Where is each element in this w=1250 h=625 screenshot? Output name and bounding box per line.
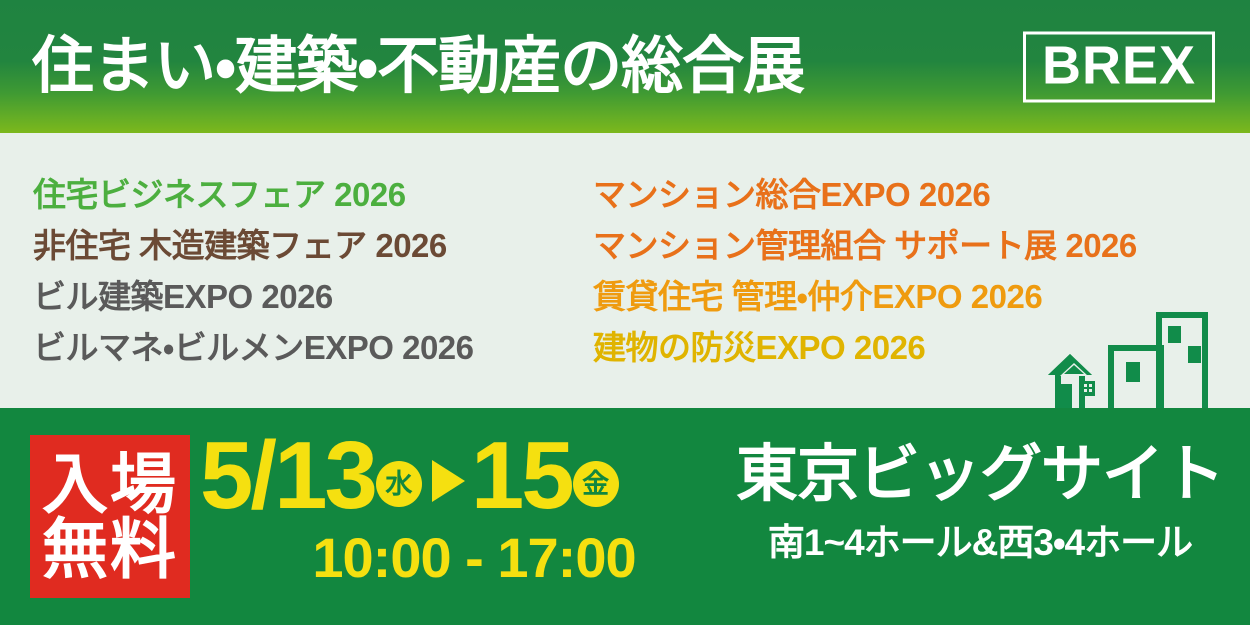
- event-item-chintai-jutaku-expo[interactable]: 賃貸住宅 管理・仲介EXPO 2026: [593, 280, 1250, 313]
- start-day-of-week-badge: 水: [376, 461, 422, 507]
- venue-block: 東京ビッグサイト 南1~4ホール&西3・4ホール: [730, 444, 1230, 561]
- house-and-buildings-icon: [1048, 312, 1238, 408]
- events-column-left: 住宅ビジネスフェア 2026 非住宅 木造建築フェア 2026 ビル建築EXPO…: [0, 133, 585, 408]
- brex-logo: BREX: [1023, 31, 1215, 102]
- event-item-birumane-birumen-expo[interactable]: ビルマネ・ビルメンEXPO 2026: [33, 331, 585, 364]
- event-item-mansion-sogo-expo[interactable]: マンション総合EXPO 2026: [593, 178, 1250, 211]
- events-section: 住宅ビジネスフェア 2026 非住宅 木造建築フェア 2026 ビル建築EXPO…: [0, 133, 1250, 408]
- event-banner: 住まい・建築・不動産の総合展 BREX 住宅ビジネスフェア 2026 非住宅 木…: [0, 0, 1250, 625]
- banner-footer: 入場 無料 5/13 水 15 金 10:00 - 17:00 東京ビッグサイト…: [0, 408, 1250, 625]
- event-hours: 10:00 - 17:00: [200, 530, 720, 586]
- arrow-right-icon: [432, 460, 465, 502]
- brex-logo-text: BREX: [1042, 38, 1196, 92]
- admission-badge-line1: 入場: [42, 452, 178, 516]
- admission-free-badge: 入場 無料: [30, 435, 190, 598]
- event-item-mansion-kanri-kumiai-support[interactable]: マンション管理組合 サポート展 2026: [593, 229, 1250, 262]
- end-day-of-week-badge: 金: [573, 461, 619, 507]
- admission-badge-line2: 無料: [42, 517, 178, 581]
- event-start-date: 5/13: [200, 428, 375, 524]
- event-item-biru-kenchiku-expo[interactable]: ビル建築EXPO 2026: [33, 280, 585, 313]
- venue-name: 東京ビッグサイト: [730, 444, 1230, 506]
- event-date-range: 5/13 水 15 金: [200, 428, 720, 524]
- venue-halls: 南1~4ホール&西3・4ホール: [730, 524, 1230, 561]
- event-item-jutaku-business-fair[interactable]: 住宅ビジネスフェア 2026: [33, 178, 585, 211]
- event-date-block: 5/13 水 15 金 10:00 - 17:00: [200, 428, 720, 586]
- event-item-mokuzo-kenchiku-fair[interactable]: 非住宅 木造建築フェア 2026: [33, 229, 585, 262]
- banner-header: 住まい・建築・不動産の総合展 BREX: [0, 0, 1250, 133]
- page-title: 住まい・建築・不動産の総合展: [32, 36, 804, 98]
- event-end-date: 15: [471, 428, 572, 524]
